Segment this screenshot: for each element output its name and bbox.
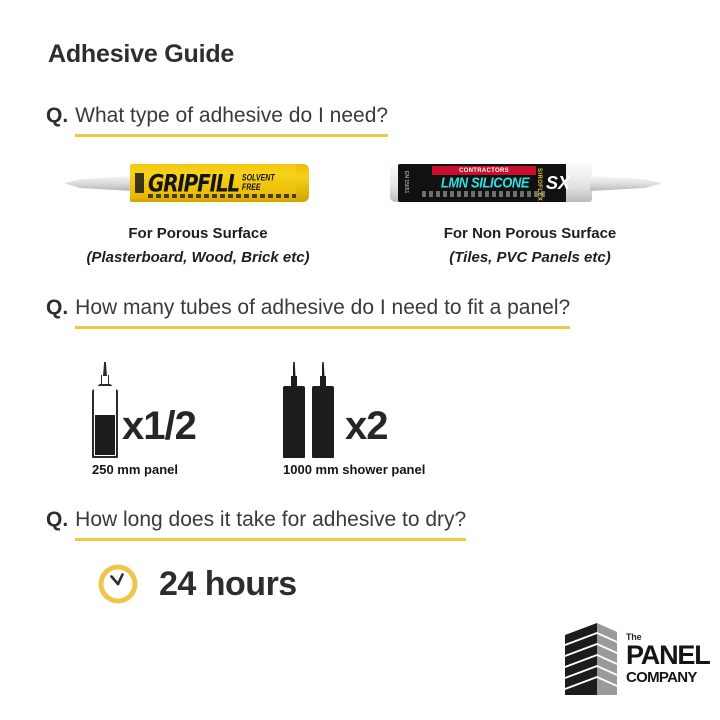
logo-panel: PANEL — [626, 643, 710, 669]
gripfill-tagline: SOLVENT FREE — [242, 174, 275, 193]
tube-half-full-icon — [92, 362, 118, 458]
tube-fill-level — [95, 415, 115, 455]
quantity-group-1000mm: x2 1000 mm shower panel — [283, 360, 425, 477]
quantity-illustration: x2 — [283, 360, 425, 458]
product-lmn-silicone: EN 15651 CONTRACTORS LMN SILICONE SIROFL… — [370, 155, 690, 268]
question-marker: Q. — [46, 104, 68, 128]
gripfill-brand-text: GRIPFILL — [148, 171, 239, 195]
question-2-underline: How many tubes of adhesive do I need to … — [75, 297, 570, 329]
product-row: GRIPFILL SOLVENT FREE For Porous Surface… — [0, 155, 720, 275]
tube-fineprint — [422, 191, 548, 197]
question-1: Q. What type of adhesive do I need? — [46, 104, 388, 137]
gripfill-caption-sub: (Plasterboard, Wood, Brick etc) — [38, 249, 358, 268]
question-1-underline: What type of adhesive do I need? — [75, 105, 388, 137]
quantity-multiplier: x2 — [345, 406, 388, 446]
silicone-caption-main: For Non Porous Surface — [370, 225, 690, 244]
quantity-group-250mm: x1/2 250 mm panel — [92, 360, 196, 477]
tube-full-icon — [283, 362, 305, 458]
question-1-text: What type of adhesive do I need? — [75, 104, 388, 127]
answer-row: 24 hours — [97, 563, 297, 605]
tube-nozzle-icon — [290, 362, 298, 388]
gripfill-tagline-line1: SOLVENT — [242, 174, 275, 183]
question-3-underline: How long does it take for adhesive to dr… — [75, 509, 466, 541]
question-2-text: How many tubes of adhesive do I need to … — [75, 296, 570, 319]
quantity-caption: 1000 mm shower panel — [283, 462, 425, 477]
question-2: Q. How many tubes of adhesive do I need … — [46, 296, 570, 329]
gripfill-tagline-line2: FREE — [242, 183, 261, 192]
product-gripfill: GRIPFILL SOLVENT FREE For Porous Surface… — [38, 155, 358, 268]
tube-left-marking — [135, 173, 144, 193]
clock-icon — [97, 563, 139, 605]
quantity-caption: 250 mm panel — [92, 462, 196, 477]
quantity-row: x1/2 250 mm panel x2 1000 mm shower pane… — [0, 360, 720, 485]
gripfill-tube-illustration: GRIPFILL SOLVENT FREE — [38, 155, 358, 211]
gripfill-caption-main: For Porous Surface — [38, 225, 358, 244]
logo-company: COMPANY — [626, 670, 710, 685]
tube-nozzle-icon — [590, 176, 662, 191]
question-3-text: How long does it take for adhesive to dr… — [75, 508, 466, 531]
page-title: Adhesive Guide — [48, 40, 234, 69]
answer-text: 24 hours — [159, 567, 297, 601]
quantity-multiplier: x1/2 — [122, 406, 196, 446]
tube-full-icon — [312, 362, 334, 458]
logo-wordmark: The PANEL COMPANY — [626, 633, 710, 686]
panel-company-logo: The PANEL COMPANY — [563, 618, 693, 700]
tube-body-solid — [283, 386, 305, 458]
silicone-side-brand: SX — [546, 166, 570, 200]
tube-nozzle-icon — [101, 362, 109, 386]
adhesive-guide-infographic: Adhesive Guide Q. What type of adhesive … — [0, 0, 720, 720]
question-marker: Q. — [46, 508, 68, 532]
silicone-brand-text: LMN SILICONE — [422, 175, 548, 190]
question-marker: Q. — [46, 296, 68, 320]
tube-body-solid — [312, 386, 334, 458]
tube-nozzle-icon — [319, 362, 327, 388]
silicone-side-word: SIROFLEX — [536, 168, 542, 201]
question-3: Q. How long does it take for adhesive to… — [46, 508, 466, 541]
panel-stack-icon — [563, 621, 619, 697]
quantity-illustration: x1/2 — [92, 360, 196, 458]
silicone-caption-sub: (Tiles, PVC Panels etc) — [370, 249, 690, 268]
silicone-tube-illustration: EN 15651 CONTRACTORS LMN SILICONE SIROFL… — [370, 155, 690, 211]
tube-nozzle-icon — [64, 176, 132, 191]
silicone-banner-text: CONTRACTORS — [459, 168, 509, 174]
tube-fineprint — [148, 194, 296, 198]
tube-left-code: EN 15651 — [403, 171, 408, 193]
